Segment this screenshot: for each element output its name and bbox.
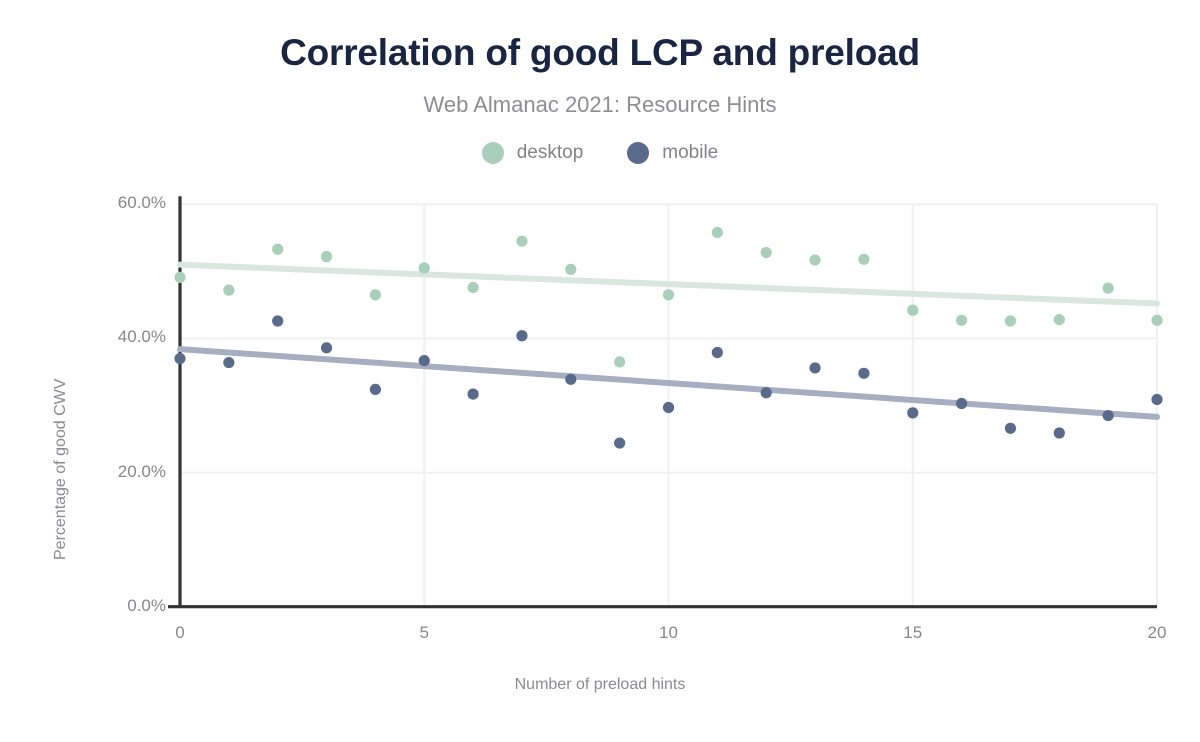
- x-tick-label: 10: [639, 623, 699, 643]
- data-point-mobile[interactable]: [370, 384, 381, 395]
- x-tick-label: 0: [150, 623, 210, 643]
- data-point-mobile[interactable]: [516, 330, 527, 341]
- data-point-mobile[interactable]: [761, 387, 772, 398]
- x-axis-title: Number of preload hints: [0, 676, 1200, 694]
- data-point-mobile[interactable]: [272, 315, 283, 326]
- data-point-mobile[interactable]: [858, 368, 869, 379]
- data-point-desktop[interactable]: [565, 264, 576, 275]
- x-tick-label: 15: [883, 623, 943, 643]
- data-point-mobile[interactable]: [321, 342, 332, 353]
- data-point-desktop[interactable]: [174, 272, 185, 283]
- y-tick-label: 40.0%: [76, 327, 166, 347]
- data-point-desktop[interactable]: [468, 282, 479, 293]
- data-point-desktop[interactable]: [907, 305, 918, 316]
- y-tick-label: 0.0%: [76, 596, 166, 616]
- data-point-desktop[interactable]: [663, 289, 674, 300]
- chart-container: Correlation of good LCP and preload Web …: [0, 0, 1200, 742]
- data-point-desktop[interactable]: [223, 285, 234, 296]
- data-point-desktop[interactable]: [858, 254, 869, 265]
- data-point-mobile[interactable]: [614, 437, 625, 448]
- data-point-desktop[interactable]: [370, 289, 381, 300]
- data-point-mobile[interactable]: [956, 398, 967, 409]
- data-point-desktop[interactable]: [1103, 283, 1114, 294]
- data-point-desktop[interactable]: [1005, 315, 1016, 326]
- data-point-desktop[interactable]: [761, 247, 772, 258]
- data-point-desktop[interactable]: [1151, 315, 1162, 326]
- data-point-mobile[interactable]: [174, 353, 185, 364]
- data-point-mobile[interactable]: [809, 362, 820, 373]
- data-point-mobile[interactable]: [1103, 410, 1114, 421]
- y-tick-label: 20.0%: [76, 462, 166, 482]
- data-point-desktop[interactable]: [1054, 314, 1065, 325]
- data-point-mobile[interactable]: [663, 402, 674, 413]
- y-axis-title: Percentage of good CWV: [52, 379, 70, 560]
- data-point-mobile[interactable]: [907, 407, 918, 418]
- data-point-mobile[interactable]: [1151, 394, 1162, 405]
- data-point-desktop[interactable]: [321, 251, 332, 262]
- data-point-desktop[interactable]: [272, 244, 283, 255]
- x-tick-label: 20: [1127, 623, 1187, 643]
- data-point-desktop[interactable]: [419, 262, 430, 273]
- data-point-desktop[interactable]: [516, 236, 527, 247]
- data-point-desktop[interactable]: [956, 315, 967, 326]
- data-point-mobile[interactable]: [1005, 423, 1016, 434]
- y-tick-label: 60.0%: [76, 193, 166, 213]
- data-point-mobile[interactable]: [712, 347, 723, 358]
- data-point-desktop[interactable]: [809, 254, 820, 265]
- data-point-mobile[interactable]: [468, 388, 479, 399]
- axis-lines: [168, 196, 1157, 606]
- data-point-mobile[interactable]: [223, 357, 234, 368]
- data-point-mobile[interactable]: [419, 355, 430, 366]
- data-point-mobile[interactable]: [1054, 427, 1065, 438]
- x-tick-label: 5: [394, 623, 454, 643]
- data-point-mobile[interactable]: [565, 374, 576, 385]
- data-point-desktop[interactable]: [712, 227, 723, 238]
- data-point-desktop[interactable]: [614, 356, 625, 367]
